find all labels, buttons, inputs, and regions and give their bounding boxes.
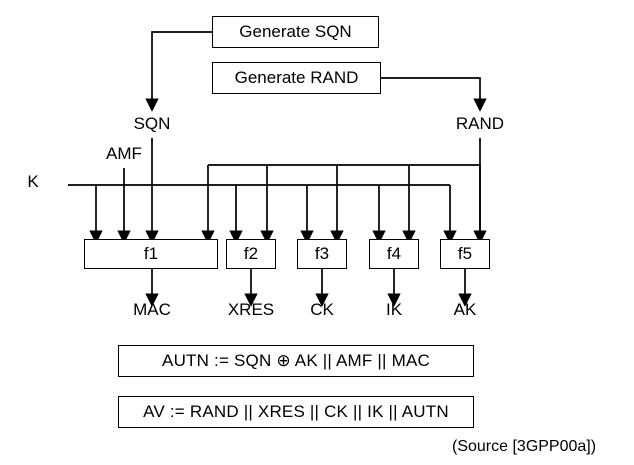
function-label-f2: f2 [244, 244, 258, 264]
sqn-label: SQN [116, 114, 188, 134]
function-label-f3: f3 [315, 244, 329, 264]
wire-gen-sqn-to-sqn [152, 32, 212, 100]
generate-sqn-box: Generate SQN [212, 16, 379, 48]
rand-label: RAND [443, 114, 517, 134]
function-box-f5: f5 [440, 239, 490, 269]
function-label-f1: f1 [144, 244, 158, 264]
function-label-f5: f5 [458, 244, 472, 264]
formula-label-autn: AUTN := SQN ⊕ AK || AMF || MAC [162, 351, 430, 371]
k-label: K [20, 172, 46, 192]
output-label-ik: IK [354, 300, 434, 320]
authentication-vector-diagram: Generate SQN Generate RAND SQN AMF RAND … [0, 0, 634, 465]
generate-rand-box: Generate RAND [212, 62, 381, 94]
formula-box-autn: AUTN := SQN ⊕ AK || AMF || MAC [118, 345, 474, 377]
output-label-mac: MAC [112, 300, 192, 320]
generate-sqn-label: Generate SQN [239, 22, 351, 42]
function-box-f2: f2 [226, 239, 276, 269]
output-label-ck: CK [282, 300, 362, 320]
output-label-ak: AK [425, 300, 505, 320]
function-box-f3: f3 [297, 239, 347, 269]
formula-box-av: AV := RAND || XRES || CK || IK || AUTN [118, 396, 474, 428]
formula-label-av: AV := RAND || XRES || CK || IK || AUTN [143, 402, 449, 422]
output-label-xres: XRES [211, 300, 291, 320]
source-attribution: (Source [3GPP00a]) [452, 438, 596, 456]
function-box-f1: f1 [84, 239, 218, 269]
generate-rand-label: Generate RAND [235, 68, 359, 88]
function-label-f4: f4 [387, 244, 401, 264]
wire-gen-rand-to-rand [381, 78, 480, 100]
amf-label: AMF [88, 144, 160, 164]
function-box-f4: f4 [369, 239, 419, 269]
